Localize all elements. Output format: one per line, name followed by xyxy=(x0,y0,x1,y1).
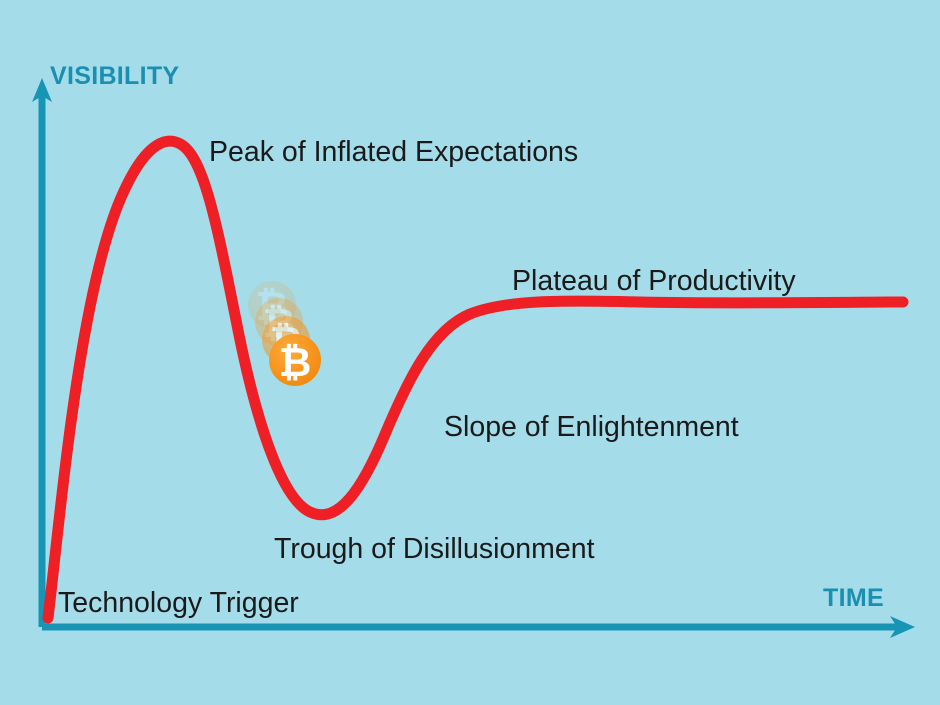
label-plateau-of-productivity: Plateau of Productivity xyxy=(512,265,796,297)
label-slope-of-enlightenment: Slope of Enlightenment xyxy=(444,411,739,443)
label-technology-trigger: Technology Trigger xyxy=(58,587,299,619)
label-peak-of-inflated-expectations: Peak of Inflated Expectations xyxy=(209,136,578,168)
label-trough-of-disillusionment: Trough of Disillusionment xyxy=(274,533,595,565)
bitcoin-marker-trail: ₿ ₿ ₿ ₿ xyxy=(248,281,321,386)
hype-cycle-canvas: VISIBILITY TIME ₿ ₿ ₿ ₿ Technology xyxy=(0,0,940,705)
hype-cycle-figure: VISIBILITY TIME ₿ ₿ ₿ ₿ Technology xyxy=(0,0,940,705)
x-axis-title: TIME xyxy=(823,584,884,612)
y-axis-title: VISIBILITY xyxy=(50,62,179,90)
bitcoin-marker[interactable]: ₿ xyxy=(269,334,321,386)
bitcoin-symbol: ₿ xyxy=(279,341,312,385)
